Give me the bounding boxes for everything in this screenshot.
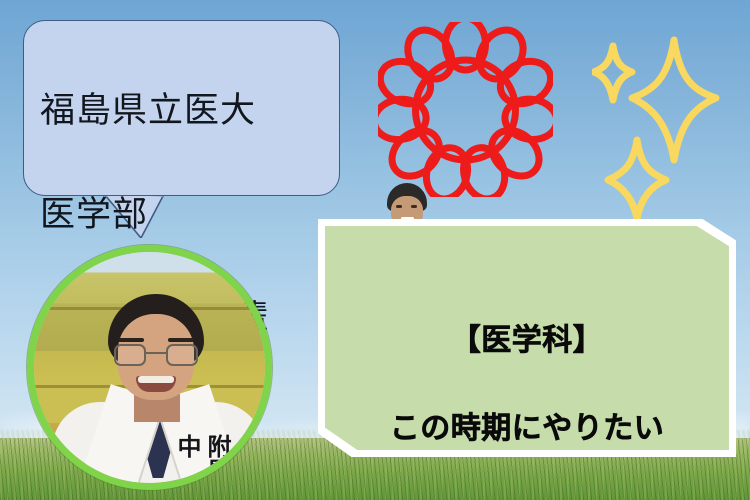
glasses-bridge <box>146 352 166 354</box>
headline-line-1: 【医学科】 <box>318 319 736 363</box>
headline-card: 【医学科】 この時期にやりたい 2次試験対策！ <box>318 219 736 457</box>
speaker-portrait: 附属中 <box>27 245 272 490</box>
glasses-icon <box>114 344 200 366</box>
speaker-name-line-1: 福島県立医大 <box>40 85 331 137</box>
portrait-photo: 附属中 <box>34 252 265 483</box>
background-person-eye-left <box>396 205 402 208</box>
portrait-mouth <box>136 376 176 392</box>
background-person-eye-right <box>411 205 417 208</box>
sparkle-icon <box>592 30 750 220</box>
portrait-brow-left <box>118 338 144 342</box>
red-flower-icon <box>378 22 553 197</box>
thumbnail-canvas: 福島県立医大 医学部 カルロス先輩 【医学科】 この時期にやりたい 2次試験対策… <box>0 0 750 500</box>
glasses-lens-right <box>166 344 198 366</box>
speaker-name-line-2: 医学部 <box>40 189 331 241</box>
speaker-name-bubble: 福島県立医大 医学部 カルロス先輩 <box>23 20 340 196</box>
portrait-brow-right <box>168 338 194 342</box>
portrait-teeth <box>138 376 174 383</box>
glasses-lens-left <box>114 344 146 366</box>
portrait-uniform-kanji: 附属中 <box>202 434 232 483</box>
headline-line-2: この時期にやりたい <box>318 407 736 451</box>
